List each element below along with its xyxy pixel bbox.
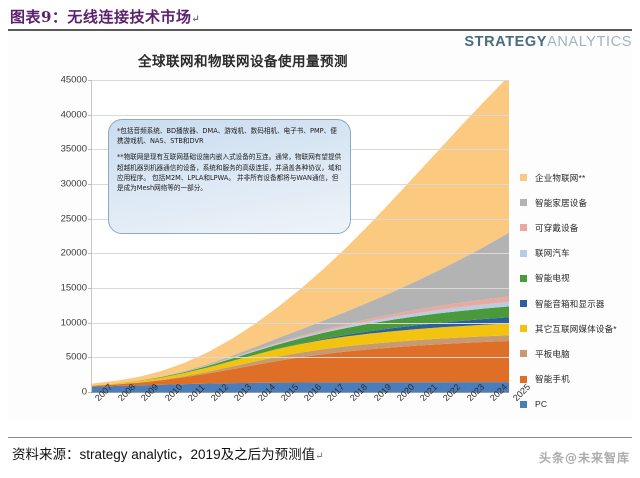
legend-label: 联网汽车 (535, 247, 570, 259)
y-tick-35000: 35000 (11, 144, 87, 155)
y-tick-20000: 20000 (11, 248, 87, 259)
legend-label: 其它互联网媒体设备* (535, 323, 617, 335)
tickmark-15000 (88, 288, 92, 289)
legend-label: 企业物联网** (535, 172, 586, 184)
legend-swatch-icon (520, 350, 527, 357)
legend-swatch-icon (520, 275, 527, 282)
y-tick-0: 0 (11, 387, 87, 398)
tickmark-20000 (88, 253, 92, 254)
tickmark-35000 (88, 149, 92, 150)
pilcrow-mark: ↵ (191, 14, 200, 25)
x-axis-labels: 2007200820092010201120122013201420152016… (91, 394, 509, 421)
legend-item-智能家居设备[interactable]: 智能家居设备 (520, 190, 632, 215)
legend-label: 平板电脑 (535, 348, 570, 360)
chart-legend: 企业物联网**智能家居设备可穿戴设备联网汽车智能电视智能音箱和显示器其它互联网媒… (520, 165, 632, 417)
y-tick-40000: 40000 (11, 109, 87, 120)
legend-swatch-icon (520, 300, 527, 307)
caption-pilcrow: ↵ (315, 451, 323, 462)
legend-label: 智能电视 (535, 272, 570, 284)
legend-swatch-icon (520, 174, 527, 181)
legend-item-联网汽车[interactable]: 联网汽车 (520, 241, 632, 266)
tickmark-10000 (88, 323, 92, 324)
y-tick-5000: 5000 (11, 352, 87, 363)
logo-strong-text: STRATEGY (464, 34, 547, 50)
legend-item-智能电视[interactable]: 智能电视 (520, 266, 632, 291)
caption-suffix: 及之后为预测值 (221, 447, 316, 463)
caption-source: strategy analytic，2019 (80, 447, 221, 462)
legend-item-平板电脑[interactable]: 平板电脑 (520, 341, 632, 366)
gridline-10000 (92, 323, 509, 324)
page-title-text: 图表9：无线连接技术市场 (10, 8, 191, 26)
tickmark-30000 (88, 184, 92, 185)
legend-label: 智能家居设备 (535, 197, 587, 209)
legend-item-PC[interactable]: PC (520, 392, 632, 417)
legend-swatch-icon (520, 224, 527, 231)
tickmark-5000 (88, 357, 92, 358)
tickmark-40000 (88, 115, 92, 116)
legend-item-可穿戴设备[interactable]: 可穿戴设备 (520, 215, 632, 240)
watermark: 头条@未来智库 (539, 449, 630, 466)
gridline-45000 (92, 80, 509, 81)
legend-item-智能音箱和显示器[interactable]: 智能音箱和显示器 (520, 291, 632, 316)
gridline-20000 (92, 253, 509, 254)
y-axis-labels: 0500010000150002000025000300003500040000… (8, 80, 87, 392)
footnote-note-1: *包括音频系统、BD播放器、DMA、游戏机、数码相机、电子书、PMP、便携游戏机… (117, 126, 342, 146)
legend-label: 智能音箱和显示器 (535, 298, 605, 310)
legend-label: 智能手机 (535, 373, 570, 385)
page-title: 图表9：无线连接技术市场↵ (10, 6, 200, 27)
legend-label: 可穿戴设备 (535, 222, 579, 234)
y-tick-10000: 10000 (11, 317, 87, 328)
legend-item-其它互联网媒体设备*[interactable]: 其它互联网媒体设备* (520, 316, 632, 341)
footnote-note-2: **物联网是现有互联网基础设施内嵌入式设备的互连。通常，物联网有望提供超越机器到… (117, 152, 342, 193)
legend-swatch-icon (520, 401, 527, 408)
y-tick-45000: 45000 (11, 75, 87, 86)
tickmark-25000 (88, 219, 92, 220)
legend-item-企业物联网**[interactable]: 企业物联网** (520, 165, 632, 190)
gridline-15000 (92, 288, 509, 289)
legend-swatch-icon (520, 199, 527, 206)
legend-swatch-icon (520, 376, 527, 383)
gridline-40000 (92, 115, 509, 116)
caption-prefix: 资料来源： (12, 447, 80, 463)
y-tick-25000: 25000 (11, 213, 87, 224)
footnote-callout: *包括音频系统、BD播放器、DMA、游戏机、数码相机、电子书、PMP、便携游戏机… (108, 119, 351, 234)
legend-label: PC (535, 399, 547, 409)
chart-card: STRATEGYANALYTICS 全球联网和物联网设备使用量预测 Millio… (8, 31, 632, 421)
legend-item-智能手机[interactable]: 智能手机 (520, 367, 632, 392)
logo-light-text: ANALYTICS (547, 34, 632, 50)
strategy-analytics-logo: STRATEGYANALYTICS (464, 34, 632, 50)
legend-swatch-icon (520, 325, 527, 332)
tickmark-45000 (88, 80, 92, 81)
y-tick-30000: 30000 (11, 179, 87, 190)
chart-title: 全球联网和物联网设备使用量预测 (8, 50, 478, 70)
y-tick-15000: 15000 (11, 283, 87, 294)
footer-divider (8, 437, 632, 438)
figure-caption: 资料来源：strategy analytic，2019及之后为预测值↵ (12, 443, 323, 463)
legend-swatch-icon (520, 250, 527, 257)
gridline-5000 (92, 357, 509, 358)
